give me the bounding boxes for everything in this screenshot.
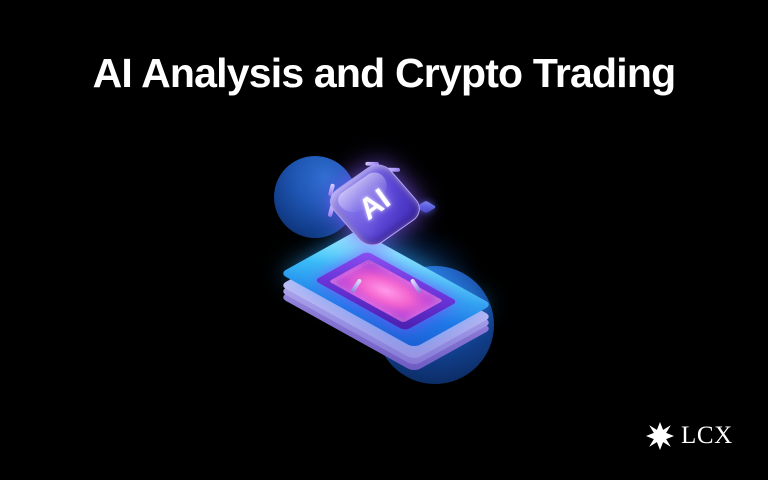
lcx-logo-text: LCX bbox=[681, 422, 733, 450]
lcx-star-icon bbox=[646, 422, 674, 450]
slide-canvas: AI Analysis and Crypto Trading bbox=[0, 0, 768, 480]
lcx-logo: LCX bbox=[646, 422, 733, 450]
ai-chip-platform-illustration: AI bbox=[268, 148, 504, 364]
page-title: AI Analysis and Crypto Trading bbox=[0, 48, 768, 98]
